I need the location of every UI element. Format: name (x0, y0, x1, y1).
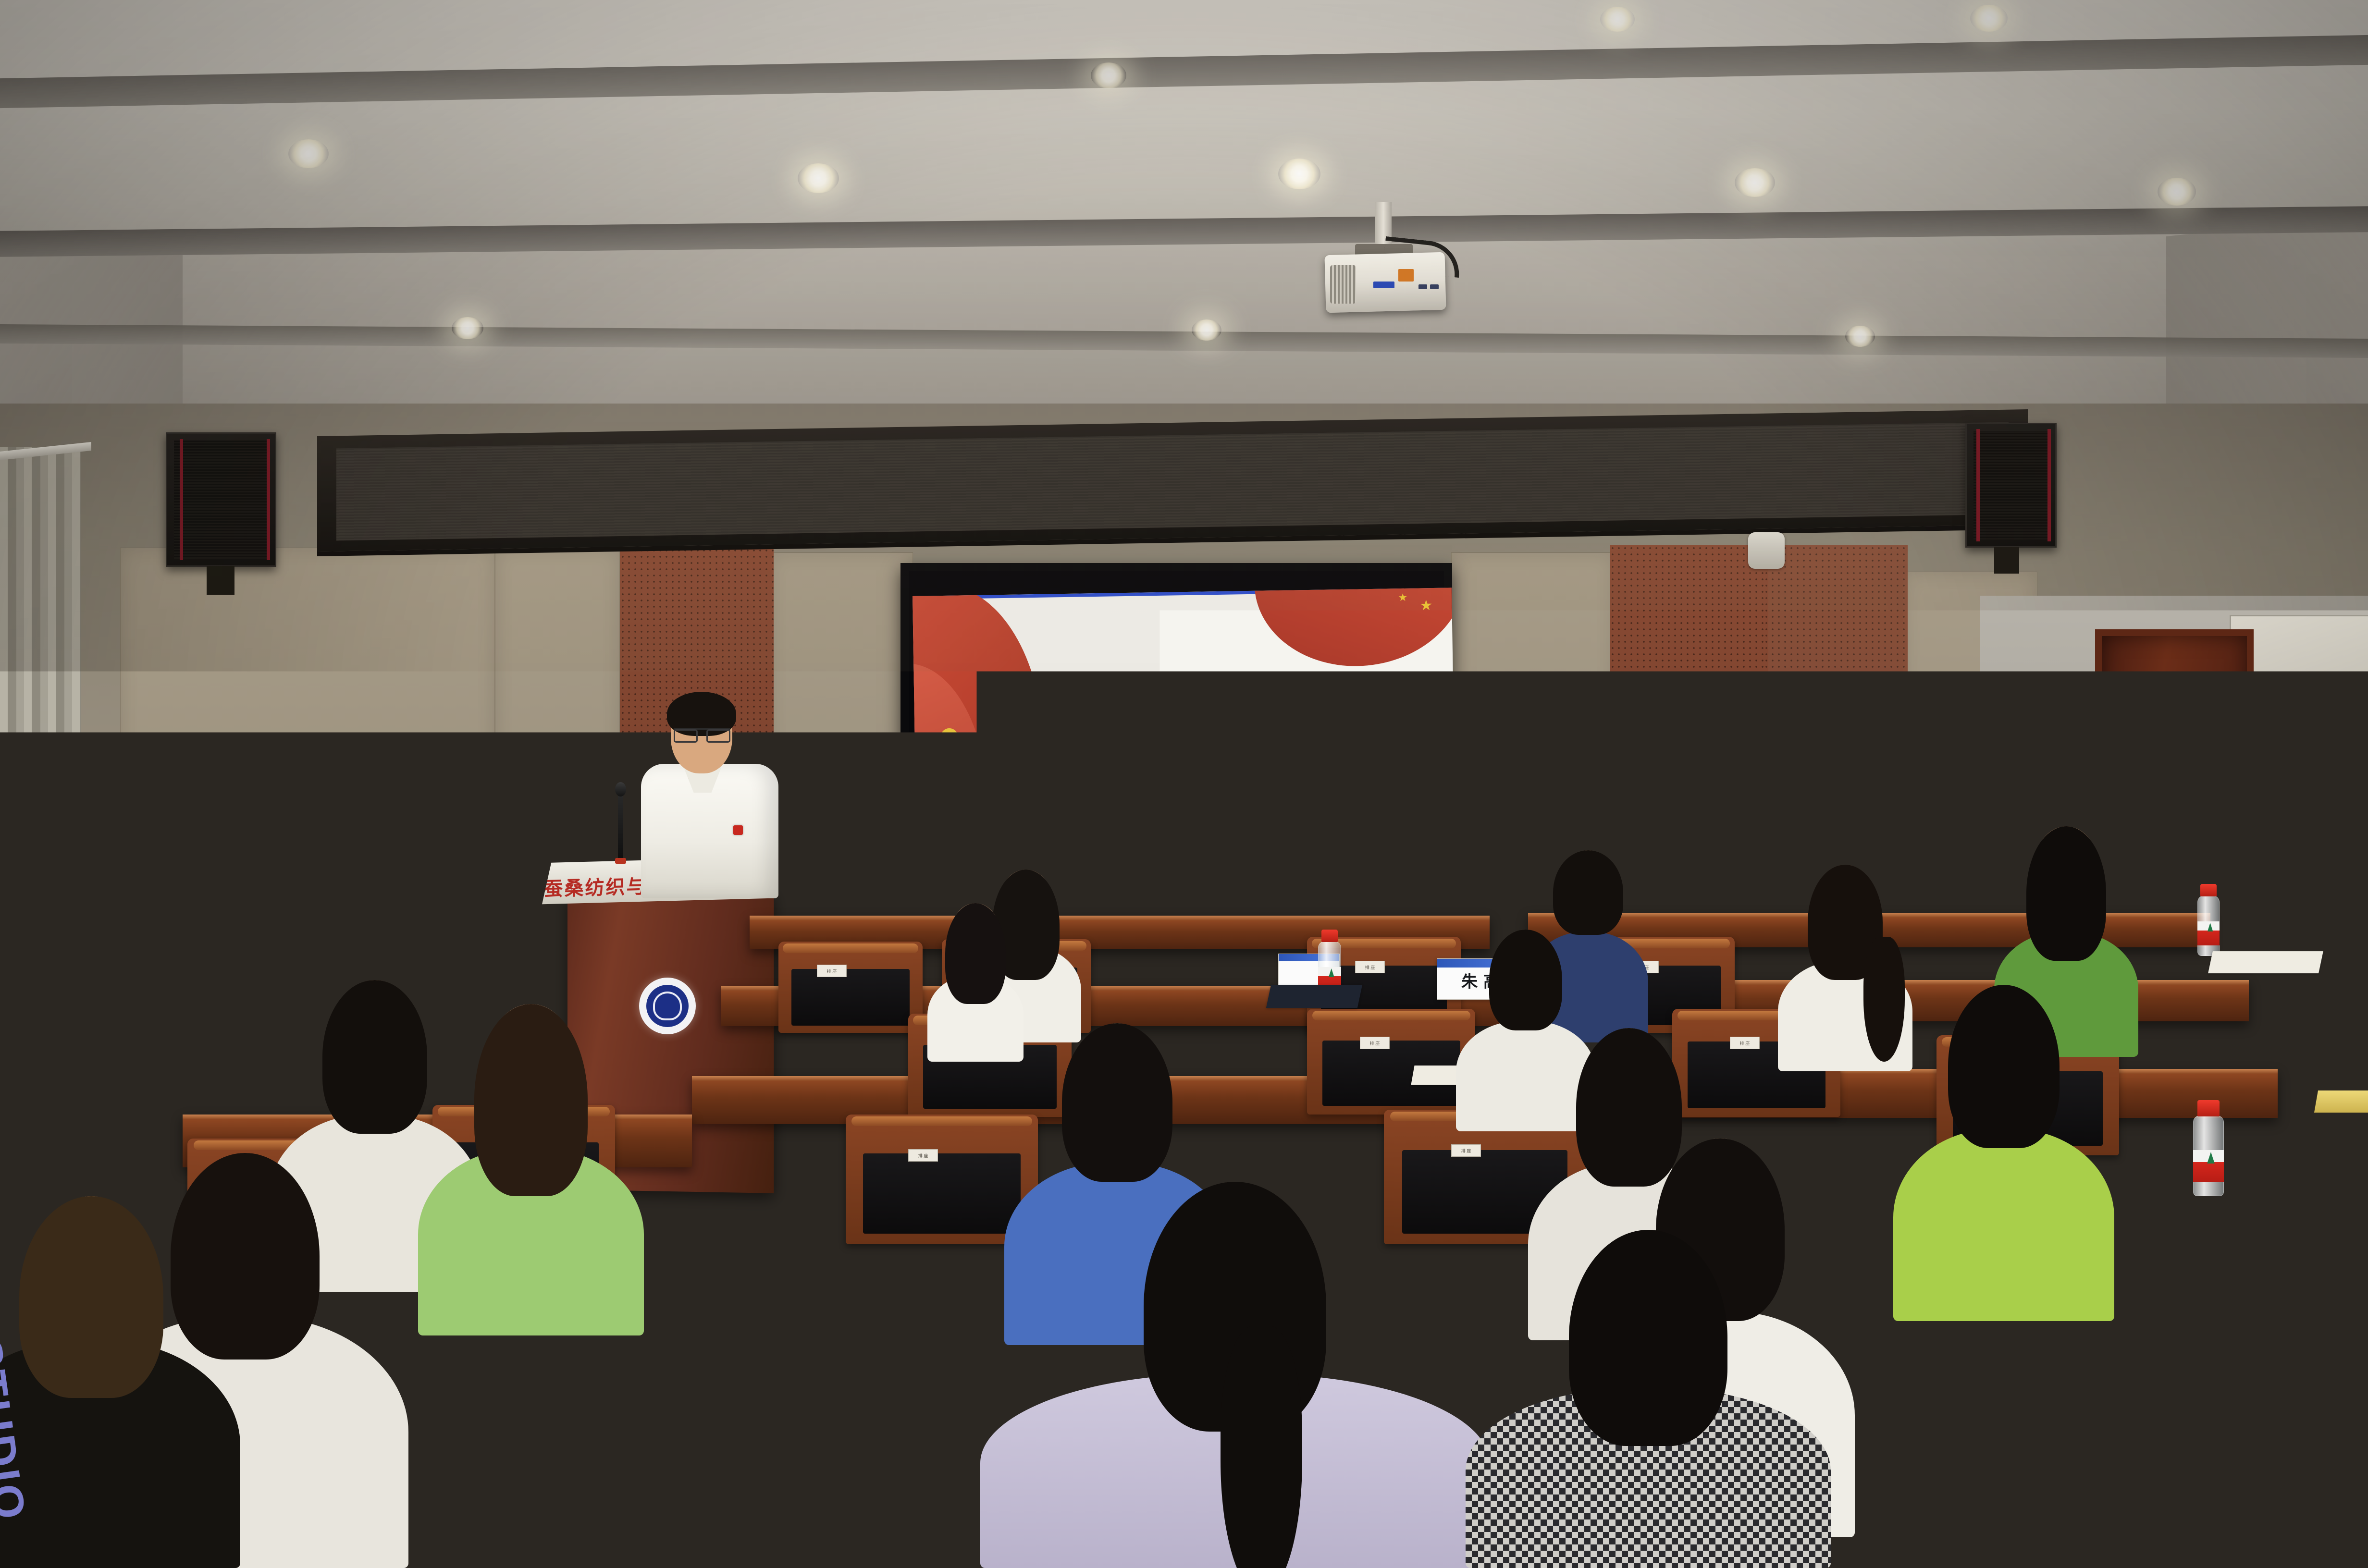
ceiling-light (798, 163, 839, 193)
ceiling-light (1970, 5, 2008, 32)
water-bottle (2196, 884, 2221, 956)
party-badge-pin-icon (733, 825, 743, 835)
paper-sheet (2285, 1033, 2368, 1052)
paper-sheet (2208, 951, 2323, 973)
microphone-ring (615, 858, 626, 864)
slide-dove-icon: ✦ (1355, 817, 1361, 824)
projector-port (1418, 284, 1427, 289)
person-hair (945, 903, 1006, 1004)
lecture-hall-photo: 张书记讲话 ★ ★ ★ ★ ★ ★ ✕ ✦ ✦ 蚕桑纺织与生物质科学学院 (0, 0, 2368, 1568)
ceiling-light (288, 139, 329, 168)
seat-number-label: 排 座 (908, 1149, 938, 1162)
ceiling-light (1600, 7, 1635, 32)
chair[interactable] (778, 942, 923, 1033)
person-hair (19, 1196, 163, 1398)
speaker-grille (1973, 431, 2048, 539)
audience-person (2191, 1134, 2368, 1403)
seat-number-label: 排 座 (1451, 1144, 1481, 1157)
person-hair (1062, 1023, 1172, 1182)
ac-vent (118, 758, 263, 816)
valance-fabric (336, 422, 2009, 541)
person-hair (2026, 826, 2106, 961)
person-hair (2239, 1134, 2345, 1287)
slide-star-icon: ★ (1419, 599, 1432, 613)
slide-star-icon: ★ (1410, 842, 1429, 863)
chair[interactable] (1307, 1009, 1475, 1115)
slide-star-icon: ★ (1038, 815, 1066, 846)
slide-star-icon: ★ (1380, 865, 1394, 882)
speaker-person (644, 692, 774, 894)
person-hair (1553, 850, 1623, 935)
window-curtain[interactable] (0, 447, 81, 937)
ceiling-light (1192, 319, 1221, 341)
slide-dove-icon: ✕ (1392, 825, 1411, 848)
wall-speaker-right (1965, 423, 2057, 548)
speaker-grille (174, 441, 268, 559)
seat-number-label: 排 座 (1730, 1037, 1760, 1049)
audience-person (418, 1004, 644, 1331)
person-hair (1489, 930, 1562, 1030)
slide-star-icon: ★ (1322, 808, 1347, 836)
ceiling-soffit-right (2166, 215, 2368, 433)
laptop (1266, 985, 1362, 1008)
notebook (2314, 1090, 2368, 1113)
ceiling-light (452, 317, 483, 339)
university-crest-icon (639, 978, 696, 1034)
projector-port (1430, 284, 1439, 289)
person-hair (322, 980, 427, 1134)
person-hair (300, 898, 368, 956)
seat-number-label: 排 座 (1355, 961, 1385, 973)
air-conditioner (107, 746, 275, 919)
ceiling-light (1735, 168, 1775, 197)
audience-person (980, 1182, 1490, 1568)
wall-speaker-left (166, 432, 276, 567)
ceiling-light (1278, 159, 1320, 189)
audience-person (1778, 865, 1912, 1071)
slide-dove-icon: ✦ (1375, 809, 1383, 819)
audience-person-tshirt (0, 1196, 240, 1568)
microphone-stem (618, 792, 623, 864)
audience-person (1466, 1230, 1831, 1568)
seat-number-label: 排 座 (1360, 1037, 1390, 1049)
projector-port-orange (1398, 269, 1414, 282)
person-hair (1569, 1230, 1727, 1446)
wall-sensor-icon (1748, 532, 1785, 569)
ceiling-light (1845, 326, 1875, 347)
water-bottle (1884, 1311, 1946, 1494)
person-ponytail (1221, 1326, 1302, 1568)
microphone-head (615, 782, 626, 796)
glasses-icon (674, 728, 730, 739)
seat-number-label: 排 座 (817, 965, 847, 977)
ceiling-light (1091, 62, 1126, 88)
projector-vent (1330, 265, 1356, 304)
slide-content: 张书记讲话 ★ ★ ★ ★ ★ ★ ✕ ✦ ✦ (913, 588, 1456, 917)
tiananmen-gate-icon (1101, 791, 1286, 914)
speaker-bracket (207, 566, 234, 595)
projector-port (1373, 282, 1394, 288)
slide-title: 张书记讲话 (914, 674, 1454, 759)
speaker-bracket (1994, 547, 2019, 574)
red-folder (2321, 870, 2368, 942)
slide-star-icon: ★ (1398, 592, 1407, 603)
ceiling-light (2158, 178, 2196, 206)
person-hair (474, 1004, 588, 1196)
